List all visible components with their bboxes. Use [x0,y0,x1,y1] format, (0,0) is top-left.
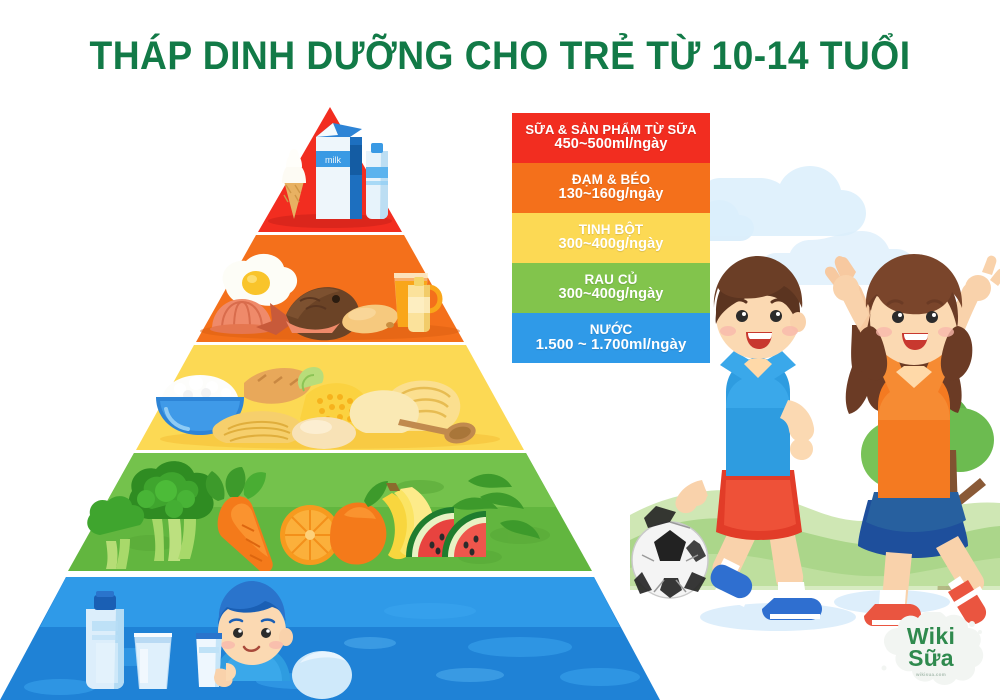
legend-panel: SỮA & SẢN PHẨM TỪ SỮA 450~500ml/ngày ĐẠM… [512,113,710,363]
legend-row-vegetables[interactable]: RAU CỦ 300~400g/ngày [512,263,710,313]
child-drinking-icon [196,581,293,687]
yogurt-bottle-icon [366,143,388,219]
legend-row-starch[interactable]: TINH BỘT 300~400g/ngày [512,213,710,263]
legend-row-water[interactable]: NƯỚC 1.500 ~ 1.700ml/ngày [512,313,710,363]
logo-subtext: wikisua.com [916,673,946,677]
legend-label: TINH BỘT [579,223,644,238]
legend-label: RAU CỦ [584,273,637,288]
svg-text:milk: milk [325,155,341,165]
infographic-canvas: milk [0,0,1000,700]
page-title: THÁP DINH DƯỠNG CHO TRẺ TỪ 10-14 TUỔI [35,34,965,79]
legend-value: 450~500ml/ngày [554,137,667,153]
pyramid-tier-water[interactable] [0,577,660,700]
logo-line-2: Sữa [908,647,954,669]
legend-label: SỮA & SẢN PHẨM TỪ SỮA [525,123,696,137]
legend-row-protein[interactable]: ĐẠM & BÉO 130~160g/ngày [512,163,710,213]
legend-value: 1.500 ~ 1.700ml/ngày [536,337,687,353]
water-glass-icon [134,633,172,689]
wiki-sua-logo[interactable]: Wiki Sữa wikisua.com [872,612,990,690]
legend-value: 130~160g/ngày [559,187,664,203]
water-droplet-icon [292,651,352,699]
ice-cream-cone-icon [282,149,306,219]
water-bottle-icon [86,591,124,689]
pumpkin-icon [330,481,388,565]
logo-line-1: Wiki [907,625,955,647]
legend-value: 300~400g/ngày [559,237,664,253]
carrot-icon [206,467,273,571]
broccoli-icon [87,461,215,569]
legend-value: 300~400g/ngày [559,287,664,303]
legend-row-dairy[interactable]: SỮA & SẢN PHẨM TỪ SỮA 450~500ml/ngày [512,113,710,163]
milk-carton-icon: milk [316,123,362,219]
cooking-oil-bottle-icon [408,277,430,332]
bread-roll-icon [292,417,356,449]
legend-label: ĐẠM & BÉO [572,173,650,188]
fried-egg-icon [223,254,297,306]
legend-label: NƯỚC [590,323,633,338]
pyramid-tier-vegetables[interactable] [0,453,660,571]
